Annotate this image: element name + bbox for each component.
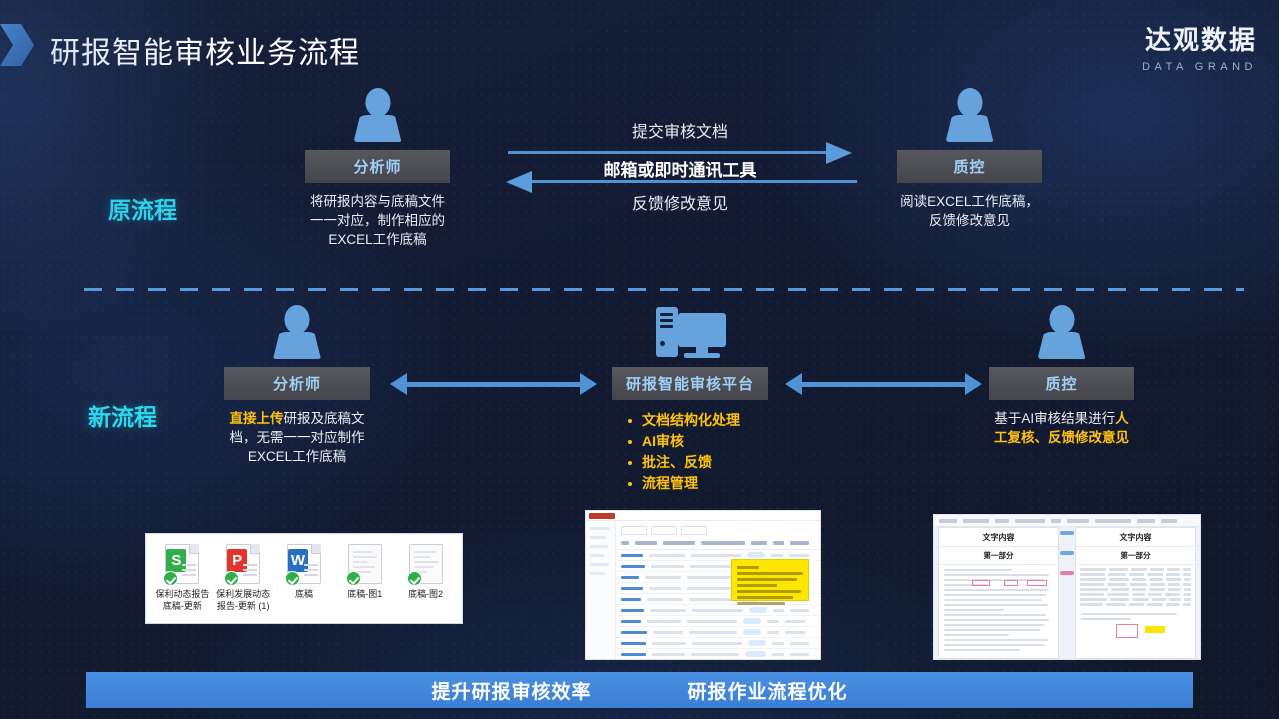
- title-arrow-marker-icon: [0, 24, 34, 66]
- old-flow-qc-node: 质控 阅读EXCEL工作底稿，反馈修改意见: [897, 88, 1042, 230]
- old-flow-bottom-label: 反馈修改意见: [500, 190, 860, 214]
- review-platform-table-screenshot[interactable]: [585, 510, 821, 660]
- app-sidebar[interactable]: [586, 521, 616, 659]
- image-file-icon: [348, 544, 382, 584]
- doc-left-body: [939, 565, 1058, 658]
- desktop-computer-icon: [654, 305, 726, 361]
- doc-toolbar[interactable]: [934, 515, 1200, 527]
- doc-link-indicators: [1060, 531, 1074, 591]
- new-flow-qc-node: 质控 基于AI审核结果进行人工复核、反馈修改意见: [989, 305, 1134, 447]
- list-item: AI审核: [626, 431, 768, 452]
- file-label: 保利动态报告底稿-更新: [153, 588, 211, 612]
- arrow-right-head-icon: [965, 373, 982, 395]
- page-title: 研报智能审核业务流程: [50, 28, 360, 72]
- logo-name-en: DATA GRAND: [1142, 61, 1257, 73]
- doc-diff-marker: [972, 580, 990, 586]
- arrow-platform-qc: [785, 373, 982, 395]
- word-file-icon: W: [287, 544, 321, 584]
- image-file-icon: [409, 544, 443, 584]
- new-qc-desc-plain: 基于AI审核结果进行: [994, 411, 1115, 426]
- app-titlebar: [586, 511, 820, 521]
- stage-label-new: 新流程: [88, 398, 157, 432]
- list-item: 批注、反馈: [626, 452, 768, 473]
- old-flow-top-label: 提交审核文档: [500, 118, 860, 142]
- old-qc-role-badge: 质控: [897, 150, 1042, 183]
- banner-text-right: 研报作业流程优化: [688, 677, 848, 704]
- new-analyst-role-badge: 分析师: [224, 367, 370, 400]
- new-qc-description: 基于AI审核结果进行人工复核、反馈修改意见: [989, 409, 1134, 447]
- logo-name-cn: 达观数据: [1142, 20, 1257, 57]
- table-row[interactable]: [616, 616, 820, 627]
- table-row[interactable]: [616, 605, 820, 616]
- doc-pane-left[interactable]: 文字内容 第一部分: [938, 527, 1059, 659]
- banner-text-left: 提升研报审核效率: [431, 677, 591, 704]
- file-label: 底稿: [275, 588, 333, 600]
- document-compare-screenshot[interactable]: 文字内容 第一部分 文字内容 第一部分: [933, 514, 1201, 660]
- app-brand-logo: [589, 513, 615, 519]
- new-qc-role-badge: 质控: [989, 367, 1134, 400]
- pdf-file-icon: P: [226, 544, 260, 584]
- brand-logo: 达观数据 DATA GRAND: [1142, 20, 1257, 73]
- arrow-analyst-platform: [390, 373, 597, 395]
- arrow-left-shaft: [530, 180, 857, 183]
- doc-left-title: 文字内容: [939, 528, 1058, 547]
- file-item[interactable]: W 底稿: [275, 544, 333, 600]
- file-item[interactable]: P 保利发展动态报告-更新 (1): [214, 544, 272, 612]
- doc-diff-marker: [1004, 580, 1018, 586]
- list-item: 流程管理: [626, 473, 768, 494]
- list-item: 文档结构化处理: [626, 410, 768, 431]
- table-row[interactable]: [616, 638, 820, 649]
- check-badge-icon: [346, 571, 361, 586]
- old-qc-description: 阅读EXCEL工作底稿，反馈修改意见: [897, 192, 1042, 230]
- doc-diff-marker: [1116, 624, 1138, 638]
- person-icon: [941, 88, 999, 144]
- person-icon: [349, 88, 407, 144]
- app-filter-buttons[interactable]: [616, 521, 820, 538]
- doc-right-subtitle: 第一部分: [1076, 547, 1195, 565]
- arrow-shaft: [799, 382, 968, 387]
- doc-diff-marker: [1027, 580, 1047, 586]
- new-analyst-desc-highlight: 直接上传: [230, 411, 284, 426]
- doc-right-table: [1076, 565, 1195, 611]
- old-analyst-role-badge: 分析师: [305, 150, 450, 183]
- file-item[interactable]: S 保利动态报告底稿-更新: [153, 544, 211, 612]
- arrow-shaft: [404, 382, 583, 387]
- platform-feature-list: 文档结构化处理 AI审核 批注、反馈 流程管理: [612, 410, 768, 494]
- new-analyst-description: 直接上传研报及底稿文档，无需一一对应制作EXCEL工作底稿: [224, 409, 370, 466]
- check-badge-icon: [407, 571, 422, 586]
- section-divider: [84, 288, 1244, 291]
- file-label: 底稿-图1: [336, 588, 394, 600]
- stage-label-old: 原流程: [108, 191, 177, 225]
- review-annotation-note[interactable]: [731, 559, 809, 601]
- old-analyst-description: 将研报内容与底稿文件一一对应，制作相应的EXCEL工作底稿: [305, 192, 450, 249]
- file-label: 保利发展动态报告-更新 (1): [214, 588, 272, 612]
- new-flow-platform-node: 研报智能审核平台 文档结构化处理 AI审核 批注、反馈 流程管理: [612, 305, 768, 494]
- old-flow-channel-label: 邮箱或即时通讯工具: [500, 156, 860, 181]
- old-flow-analyst-node: 分析师 将研报内容与底稿文件一一对应，制作相应的EXCEL工作底稿: [305, 88, 450, 249]
- new-flow-analyst-node: 分析师 直接上传研报及底稿文档，无需一一对应制作EXCEL工作底稿: [224, 305, 370, 466]
- old-flow-arrow-group: 提交审核文档 邮箱或即时通讯工具 反馈修改意见: [500, 118, 860, 204]
- arrow-right-head-icon: [580, 373, 597, 395]
- doc-left-subtitle: 第一部分: [939, 547, 1058, 565]
- uploaded-files-panel[interactable]: S 保利动态报告底稿-更新 P 保利发展动态报告-更新 (1) W 底稿: [145, 533, 463, 624]
- check-badge-icon: [285, 571, 300, 586]
- platform-role-badge: 研报智能审核平台: [612, 367, 768, 400]
- file-item[interactable]: 底稿-图2: [397, 544, 455, 600]
- table-row[interactable]: [616, 649, 820, 660]
- file-item[interactable]: 底稿-图1: [336, 544, 394, 600]
- file-label: 底稿-图2: [397, 588, 455, 600]
- person-icon: [1033, 305, 1091, 361]
- doc-pane-right[interactable]: 文字内容 第一部分: [1075, 527, 1196, 659]
- slide-canvas: 研报智能审核业务流程 达观数据 DATA GRAND 原流程 新流程 分析师 将…: [0, 0, 1279, 719]
- bottom-banner: 提升研报审核效率 研报作业流程优化: [86, 672, 1193, 708]
- spreadsheet-file-icon: S: [165, 544, 199, 584]
- table-header-row: [616, 538, 820, 550]
- arrow-right-shaft: [508, 151, 833, 154]
- doc-highlight-marker: [1145, 626, 1165, 633]
- table-row[interactable]: [616, 627, 820, 638]
- person-icon: [268, 305, 326, 361]
- doc-right-title: 文字内容: [1076, 528, 1195, 547]
